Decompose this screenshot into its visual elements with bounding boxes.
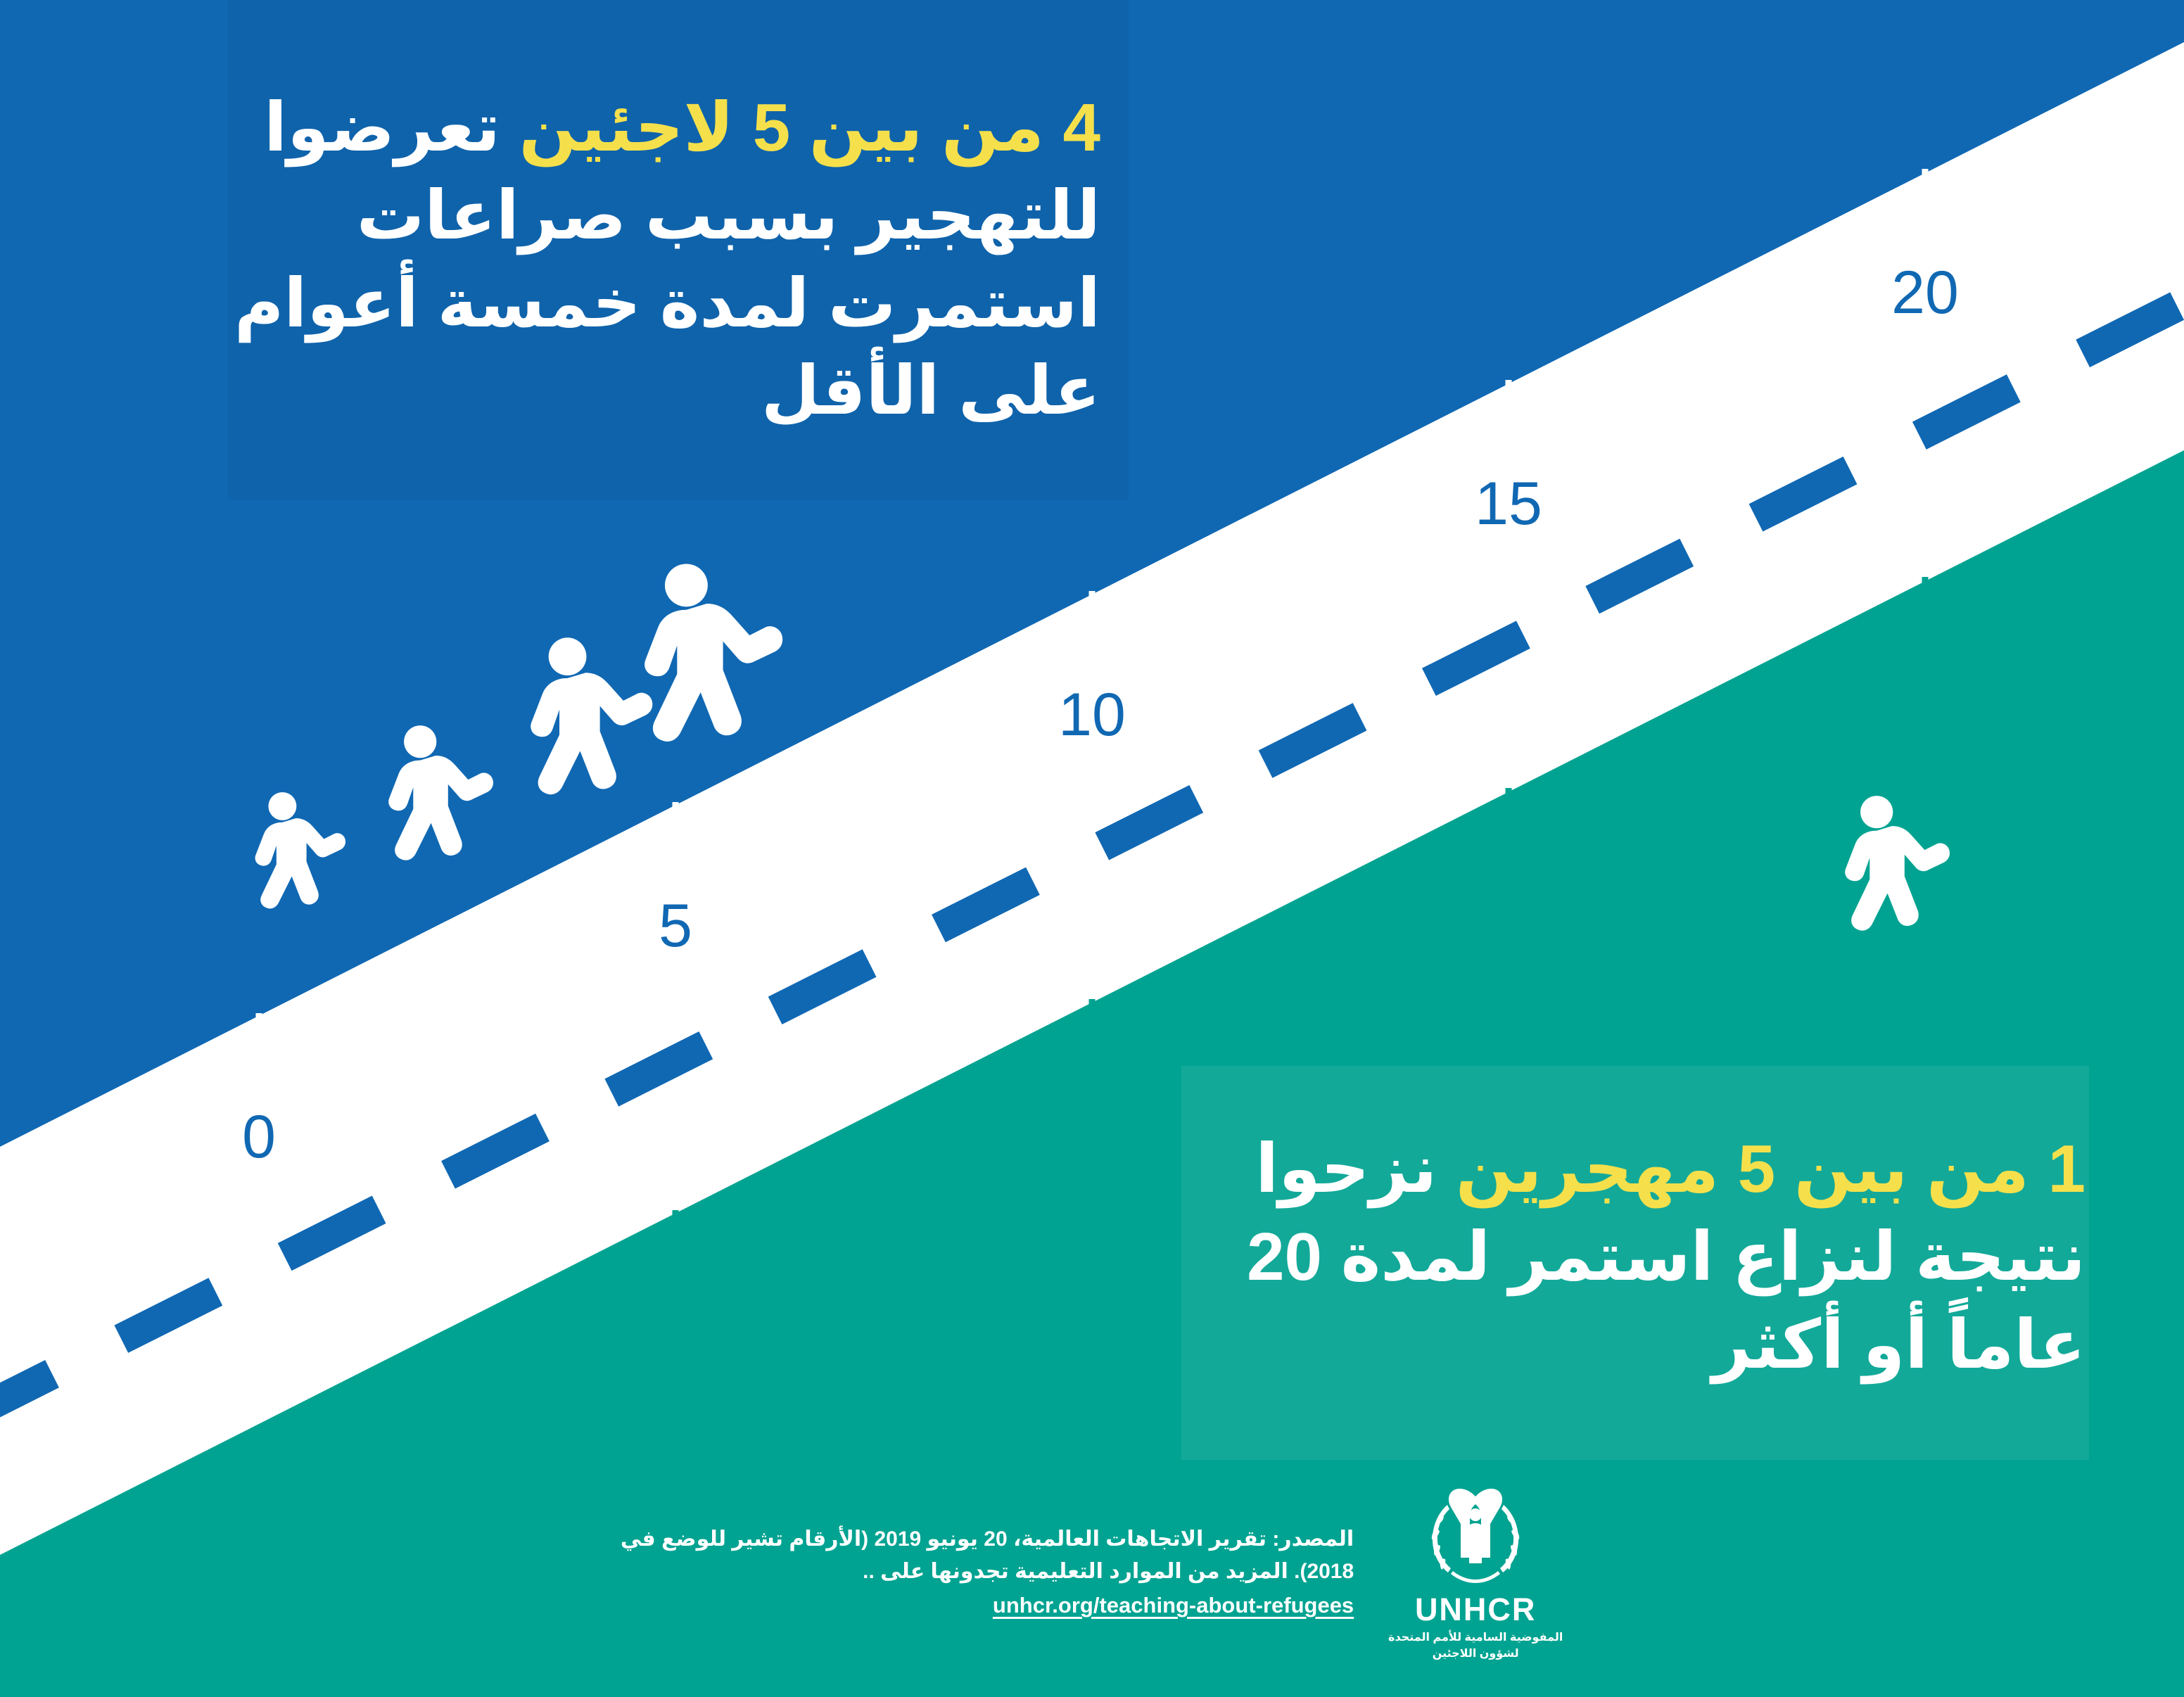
source-note-line1: المصدر: تقرير الاتجاهات العالمية، 20 يون… [621,1527,1354,1551]
callout-top-highlight: 4 من بين 5 لاجئين [519,90,1100,165]
infographic-poster: 0 5 10 15 20 4 من بين 5 لاجئين تعرضوا [0,0,2184,1697]
callout-bottom-highlight: 1 من بين 5 مهجرين [1456,1131,2085,1207]
axis-tick-label-15: 15 [1475,470,1542,538]
unhcr-wordmark: UNHCR [1415,1594,1537,1625]
source-note: المصدر: تقرير الاتجاهات العالمية، 20 يون… [621,1523,1354,1622]
unhcr-subtitle: المفوضية السامية للأمم المتحدة لشؤون الل… [1388,1629,1563,1662]
axis-tick-label-0: 0 [242,1103,276,1171]
axis-tick-label-5: 5 [659,892,692,960]
unhcr-subtitle-line2: لشؤون اللاجئين [1433,1648,1519,1660]
unhcr-subtitle-line1: المفوضية السامية للأمم المتحدة [1388,1632,1563,1644]
axis-tick-label-10: 10 [1058,681,1126,749]
resources-link[interactable]: unhcr.org/teaching-about-refugees [621,1589,1354,1622]
unhcr-logo: UNHCR المفوضية السامية للأمم المتحدة لشؤ… [1388,1484,1563,1662]
source-note-line2: 2018). المزيد من الموارد التعليمية تجدون… [863,1560,1354,1583]
footer: المصدر: تقرير الاتجاهات العالمية، 20 يون… [0,1484,2184,1662]
axis-tick-label-20: 20 [1891,259,1959,326]
callout-bottom: 1 من بين 5 مهجرين نزحوا نتيجة لنزاع استم… [1220,1126,2085,1389]
callout-top: 4 من بين 5 لاجئين تعرضوا للتهجير بسبب صر… [186,84,1100,436]
unhcr-emblem-icon [1416,1484,1535,1589]
